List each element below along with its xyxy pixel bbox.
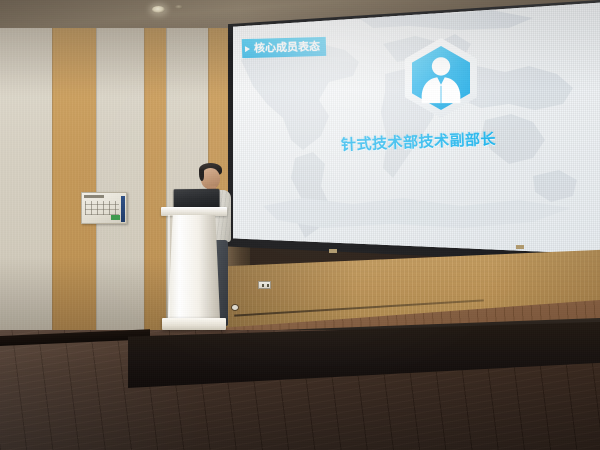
slide-hex-badge	[405, 38, 477, 118]
lectern-top-surface	[161, 207, 227, 216]
lectern-edge-highlight	[168, 215, 170, 319]
laptop-on-lectern[interactable]	[173, 189, 222, 209]
wall-panel-button-grid	[85, 201, 119, 215]
presenter-hair-side	[199, 169, 204, 181]
person-avatar-icon	[412, 46, 470, 110]
screen-mount-bracket-1	[329, 249, 337, 253]
play-arrow-icon	[245, 45, 250, 51]
wall-control-panel[interactable]	[81, 192, 127, 224]
led-screen-display[interactable]: 核心成员表态 针式技术部技术副部长	[233, 0, 600, 262]
lectern-body-shading	[168, 215, 220, 319]
slide-section-banner: 核心成员表态	[242, 37, 326, 58]
screen-mount-bracket-2	[516, 245, 524, 249]
wall-panel-blue-strip	[121, 196, 125, 222]
lectern-base	[162, 318, 226, 330]
wall-panel-green-indicator	[111, 215, 120, 220]
ceiling-downlight-icon	[152, 6, 165, 13]
wall-panel-header-bar	[84, 195, 104, 198]
power-outlet[interactable]	[258, 281, 271, 289]
outlet-slot-left	[262, 284, 264, 287]
presentation-room-photo: 核心成员表态 针式技术部技术副部长	[0, 0, 600, 450]
lectern	[161, 207, 227, 330]
outlet-slot-right	[267, 284, 269, 287]
laptop-screen-lid	[174, 189, 220, 209]
ceiling-downlight-secondary-icon	[175, 5, 183, 9]
slide-banner-label: 核心成员表态	[254, 38, 320, 56]
